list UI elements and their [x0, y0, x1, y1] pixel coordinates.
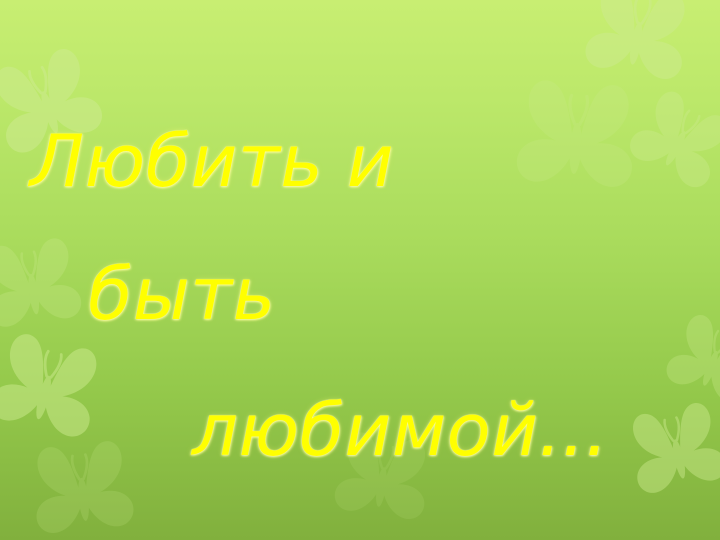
presentation-slide: Любить и быть любимой... — [0, 0, 720, 540]
slide-text-block: Любить и быть любимой... — [0, 0, 720, 540]
slide-title-line-3: любимой... — [192, 388, 609, 472]
slide-title-line-2: быть — [88, 252, 276, 336]
slide-title-line-1: Любить и — [30, 119, 394, 203]
